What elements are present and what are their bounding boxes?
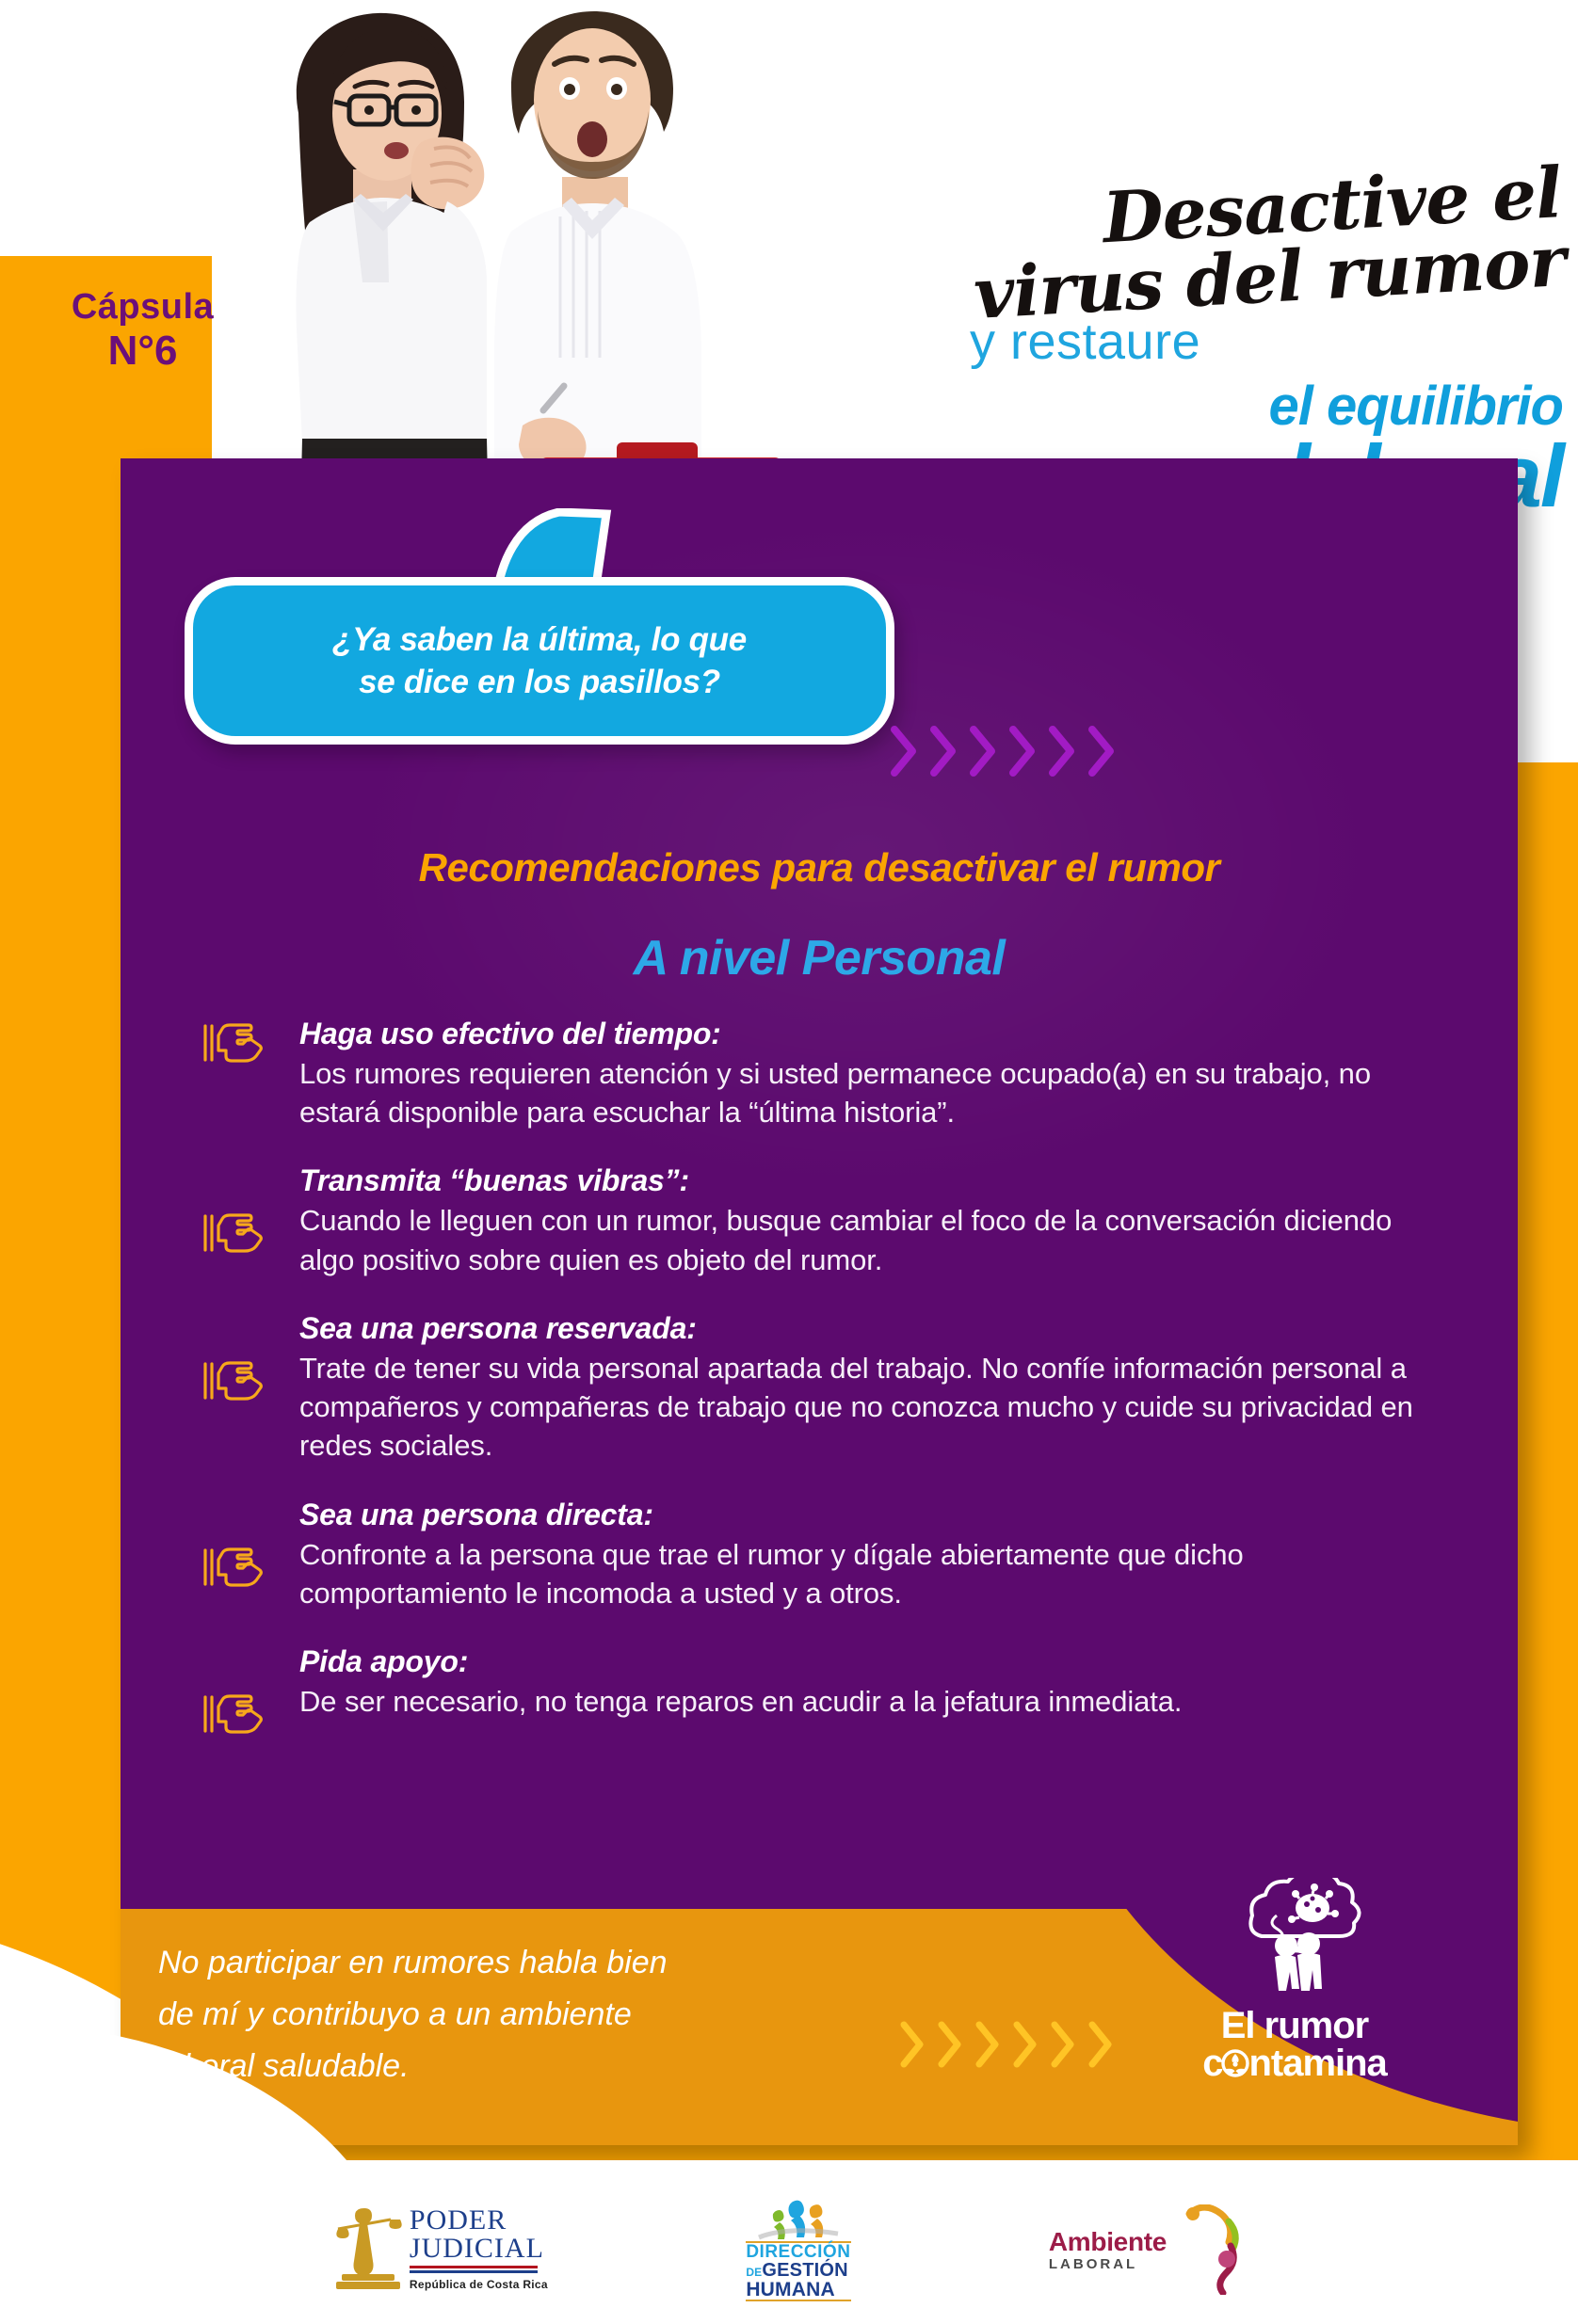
recommendation-item: Pida apoyo: De ser necesario, no tenga r… bbox=[196, 1644, 1420, 1721]
chevron-right-icon bbox=[1008, 725, 1037, 777]
chevron-right-icon bbox=[1087, 2020, 1114, 2069]
recommendation-item: Sea una persona reservada: Trate de tene… bbox=[196, 1311, 1420, 1466]
speech-bubble: ¿Ya saben la última, lo que se dice en l… bbox=[185, 577, 894, 745]
rumor-contamina-logo: El rumor c ntamina bbox=[1191, 1878, 1398, 2083]
chevron-right-icon bbox=[1050, 2020, 1076, 2069]
gestion-humana-de: DE bbox=[746, 2266, 762, 2279]
recommendation-title: Pida apoyo: bbox=[299, 1644, 1420, 1679]
gestion-humana-line1: DIRECCIÓN bbox=[746, 2243, 850, 2261]
people-swoosh-icon bbox=[755, 2198, 842, 2241]
gestion-humana-line2: DEGESTIÓN bbox=[746, 2261, 850, 2280]
speech-bubble-line1: ¿Ya saben la última, lo que bbox=[332, 621, 747, 658]
recommendation-body: Confronte a la persona que trae el rumor… bbox=[299, 1535, 1420, 1612]
ambiente-laboral-line2: LABORAL bbox=[1049, 2257, 1167, 2271]
speech-bubble-line2: se dice en los pasillos? bbox=[359, 664, 720, 700]
rumor-logo-ntamina: ntamina bbox=[1248, 2044, 1386, 2083]
recommendation-title: Transmita “buenas vibras”: bbox=[299, 1163, 1420, 1198]
recommendation-body: Cuando le lleguen con un rumor, busque c… bbox=[299, 1201, 1420, 1278]
chevron-right-icon bbox=[890, 725, 918, 777]
pledge-line2: de mí y contribuyo a un ambiente bbox=[158, 1989, 855, 2041]
pledge-line1: No participar en rumores habla bien bbox=[158, 1937, 855, 1989]
ambiente-laboral-text: Ambiente LABORAL bbox=[1049, 2229, 1167, 2271]
biohazard-o-icon bbox=[1221, 2049, 1249, 2077]
logo-ambiente-laboral: Ambiente LABORAL bbox=[1049, 2204, 1246, 2295]
section-heading-level: A nivel Personal bbox=[121, 930, 1518, 986]
recommendation-item: Transmita “buenas vibras”: Cuando le lle… bbox=[196, 1163, 1420, 1278]
rumor-logo-line1: El rumor bbox=[1191, 2007, 1398, 2044]
recommendation-title: Sea una persona reservada: bbox=[299, 1311, 1420, 1346]
chevron-right-icon bbox=[974, 2020, 1001, 2069]
capsule-label: Cápsula N°6 bbox=[41, 287, 244, 374]
rumor-logo-c: c bbox=[1202, 2044, 1222, 2083]
chevron-right-icon bbox=[969, 725, 997, 777]
pointing-hand-icon bbox=[201, 1209, 264, 1258]
chevron-right-icon bbox=[899, 2020, 926, 2069]
recommendation-title: Haga uso efectivo del tiempo: bbox=[299, 1017, 1420, 1051]
recommendation-item: Sea una persona directa: Confronte a la … bbox=[196, 1498, 1420, 1612]
speech-bubble-text: ¿Ya saben la última, lo que se dice en l… bbox=[332, 618, 747, 704]
headline-script: Desactive el virus del rumor bbox=[939, 160, 1567, 330]
chevron-right-icon bbox=[1048, 725, 1076, 777]
gestion-humana-gestion: GESTIÓN bbox=[762, 2260, 847, 2281]
chevron-right-icon bbox=[929, 725, 958, 777]
logo-poder-judicial: PODER JUDICIAL República de Costa Rica bbox=[332, 2201, 548, 2299]
pledge-text: No participar en rumores habla bien de m… bbox=[158, 1937, 855, 2092]
poder-judicial-line3: República de Costa Rica bbox=[410, 2278, 548, 2291]
justice-statue-icon bbox=[332, 2201, 404, 2299]
recommendation-title: Sea una persona directa: bbox=[299, 1498, 1420, 1532]
capsule-line1: Cápsula bbox=[41, 287, 244, 328]
rumor-logo-line2: c ntamina bbox=[1191, 2044, 1398, 2083]
chevron-row-bottom bbox=[899, 2020, 1114, 2069]
section-heading-recommendations: Recomendaciones para desactivar el rumor bbox=[121, 845, 1518, 890]
pointing-hand-icon bbox=[201, 1543, 264, 1592]
pointing-hand-icon bbox=[201, 1356, 264, 1405]
gossip-cloud-icon bbox=[1205, 1878, 1384, 1998]
logo-gestion-humana: DIRECCIÓN DEGESTIÓN HUMANA bbox=[746, 2198, 851, 2301]
gestion-humana-text: DIRECCIÓN DEGESTIÓN HUMANA bbox=[746, 2243, 850, 2300]
poder-judicial-line2: JUDICIAL bbox=[410, 2235, 548, 2263]
capsule-line2: N°6 bbox=[41, 328, 244, 374]
ambiente-figure-icon bbox=[1172, 2204, 1246, 2295]
pointing-hand-icon bbox=[201, 1018, 264, 1067]
poster-root: Cápsula N°6 Desactive el virus del rumor… bbox=[0, 0, 1578, 2324]
recommendation-body: De ser necesario, no tenga reparos en ac… bbox=[299, 1682, 1420, 1721]
recommendation-list: Haga uso efectivo del tiempo: Los rumore… bbox=[196, 1017, 1420, 1753]
poder-judicial-text: PODER JUDICIAL República de Costa Rica bbox=[410, 2206, 548, 2292]
poder-judicial-line1: PODER bbox=[410, 2206, 548, 2234]
chevron-right-icon bbox=[937, 2020, 963, 2069]
recommendation-body: Trate de tener su vida personal apartada… bbox=[299, 1349, 1420, 1466]
pledge-line3: laboral saludable. bbox=[158, 2041, 855, 2092]
gestion-humana-line3: HUMANA bbox=[746, 2280, 850, 2300]
recommendation-item: Haga uso efectivo del tiempo: Los rumore… bbox=[196, 1017, 1420, 1131]
poder-judicial-blue-rule bbox=[410, 2270, 538, 2273]
institutional-logos: PODER JUDICIAL República de Costa Rica bbox=[0, 2188, 1578, 2311]
chevron-right-icon bbox=[1012, 2020, 1039, 2069]
poder-judicial-red-rule bbox=[410, 2266, 538, 2268]
recommendation-body: Los rumores requieren atención y si uste… bbox=[299, 1054, 1420, 1131]
ambiente-laboral-line1: Ambiente bbox=[1049, 2229, 1167, 2255]
chevron-right-icon bbox=[1087, 725, 1116, 777]
gestion-humana-bottom-rule bbox=[746, 2300, 851, 2301]
pointing-hand-icon bbox=[201, 1690, 264, 1739]
chevron-row-top bbox=[890, 725, 1116, 777]
